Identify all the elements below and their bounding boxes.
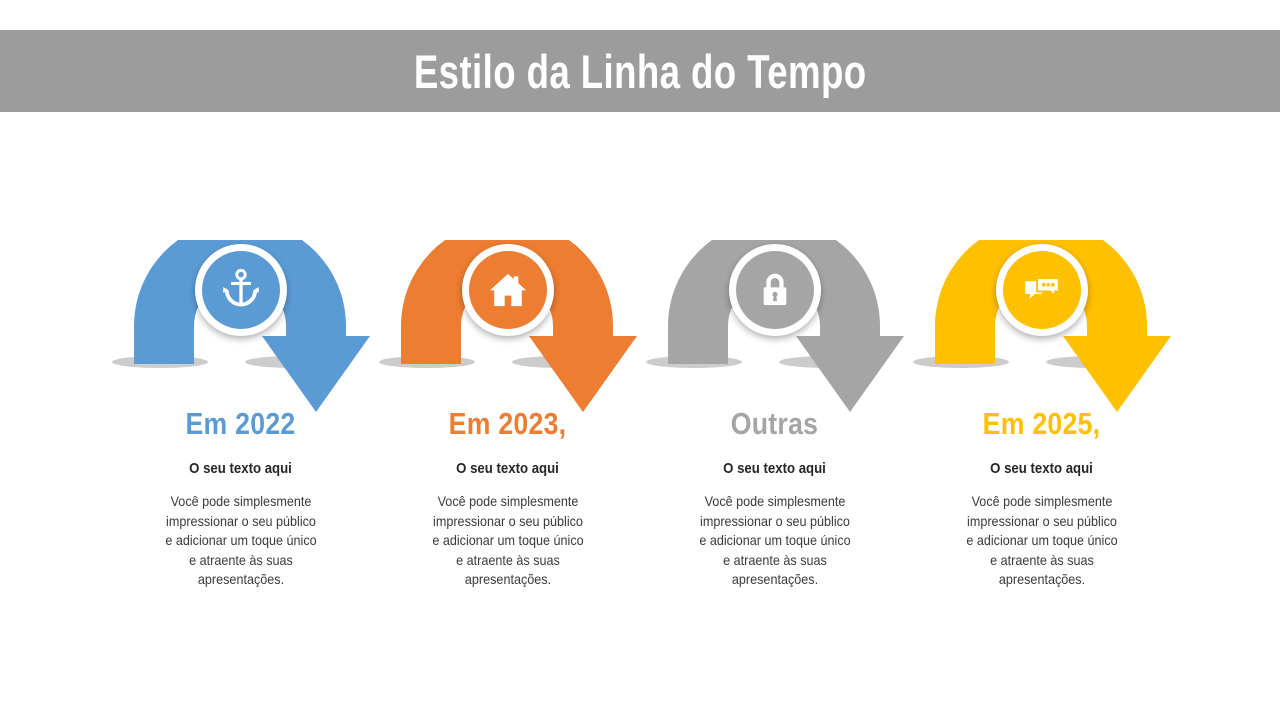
timeline-step-4[interactable]: Em 2025, O seu texto aqui Você pode simp… — [909, 240, 1174, 660]
icon-badge-3[interactable] — [729, 244, 821, 336]
timeline-step-3[interactable]: Outras O seu texto aqui Você pode simple… — [642, 240, 907, 660]
step-text-3: Outras O seu texto aqui Você pode simple… — [642, 408, 907, 590]
step-subtitle-4: O seu texto aqui — [925, 461, 1158, 476]
step-text-4: Em 2025, O seu texto aqui Você pode simp… — [909, 408, 1174, 590]
anchor-icon — [219, 268, 263, 312]
timeline-row: Em 2022 O seu texto aqui Você pode simpl… — [0, 240, 1280, 660]
lock-icon — [755, 270, 795, 310]
chat-bubbles-icon — [1021, 269, 1063, 311]
step-text-2: Em 2023, O seu texto aqui Você pode simp… — [375, 408, 640, 590]
house-icon — [487, 269, 529, 311]
step-body-1: Você pode simplesmente impressionar o se… — [151, 492, 331, 590]
step-title-4: Em 2025, — [928, 408, 1156, 439]
icon-badge-2[interactable] — [462, 244, 554, 336]
step-title-3: Outras — [661, 408, 889, 439]
step-subtitle-2: O seu texto aqui — [391, 461, 624, 476]
page-title: Estilo da Linha do Tempo — [414, 48, 867, 95]
step-subtitle-1: O seu texto aqui — [124, 461, 357, 476]
icon-badge-4[interactable] — [996, 244, 1088, 336]
step-body-2: Você pode simplesmente impressionar o se… — [418, 492, 598, 590]
header-bar: Estilo da Linha do Tempo — [0, 30, 1280, 112]
step-body-4: Você pode simplesmente impressionar o se… — [952, 492, 1132, 590]
step-title-2: Em 2023, — [394, 408, 622, 439]
step-title-1: Em 2022 — [127, 408, 355, 439]
step-body-3: Você pode simplesmente impressionar o se… — [685, 492, 865, 590]
timeline-step-1[interactable]: Em 2022 O seu texto aqui Você pode simpl… — [108, 240, 373, 660]
icon-badge-1[interactable] — [195, 244, 287, 336]
timeline-step-2[interactable]: Em 2023, O seu texto aqui Você pode simp… — [375, 240, 640, 660]
step-subtitle-3: O seu texto aqui — [658, 461, 891, 476]
step-text-1: Em 2022 O seu texto aqui Você pode simpl… — [108, 408, 373, 590]
